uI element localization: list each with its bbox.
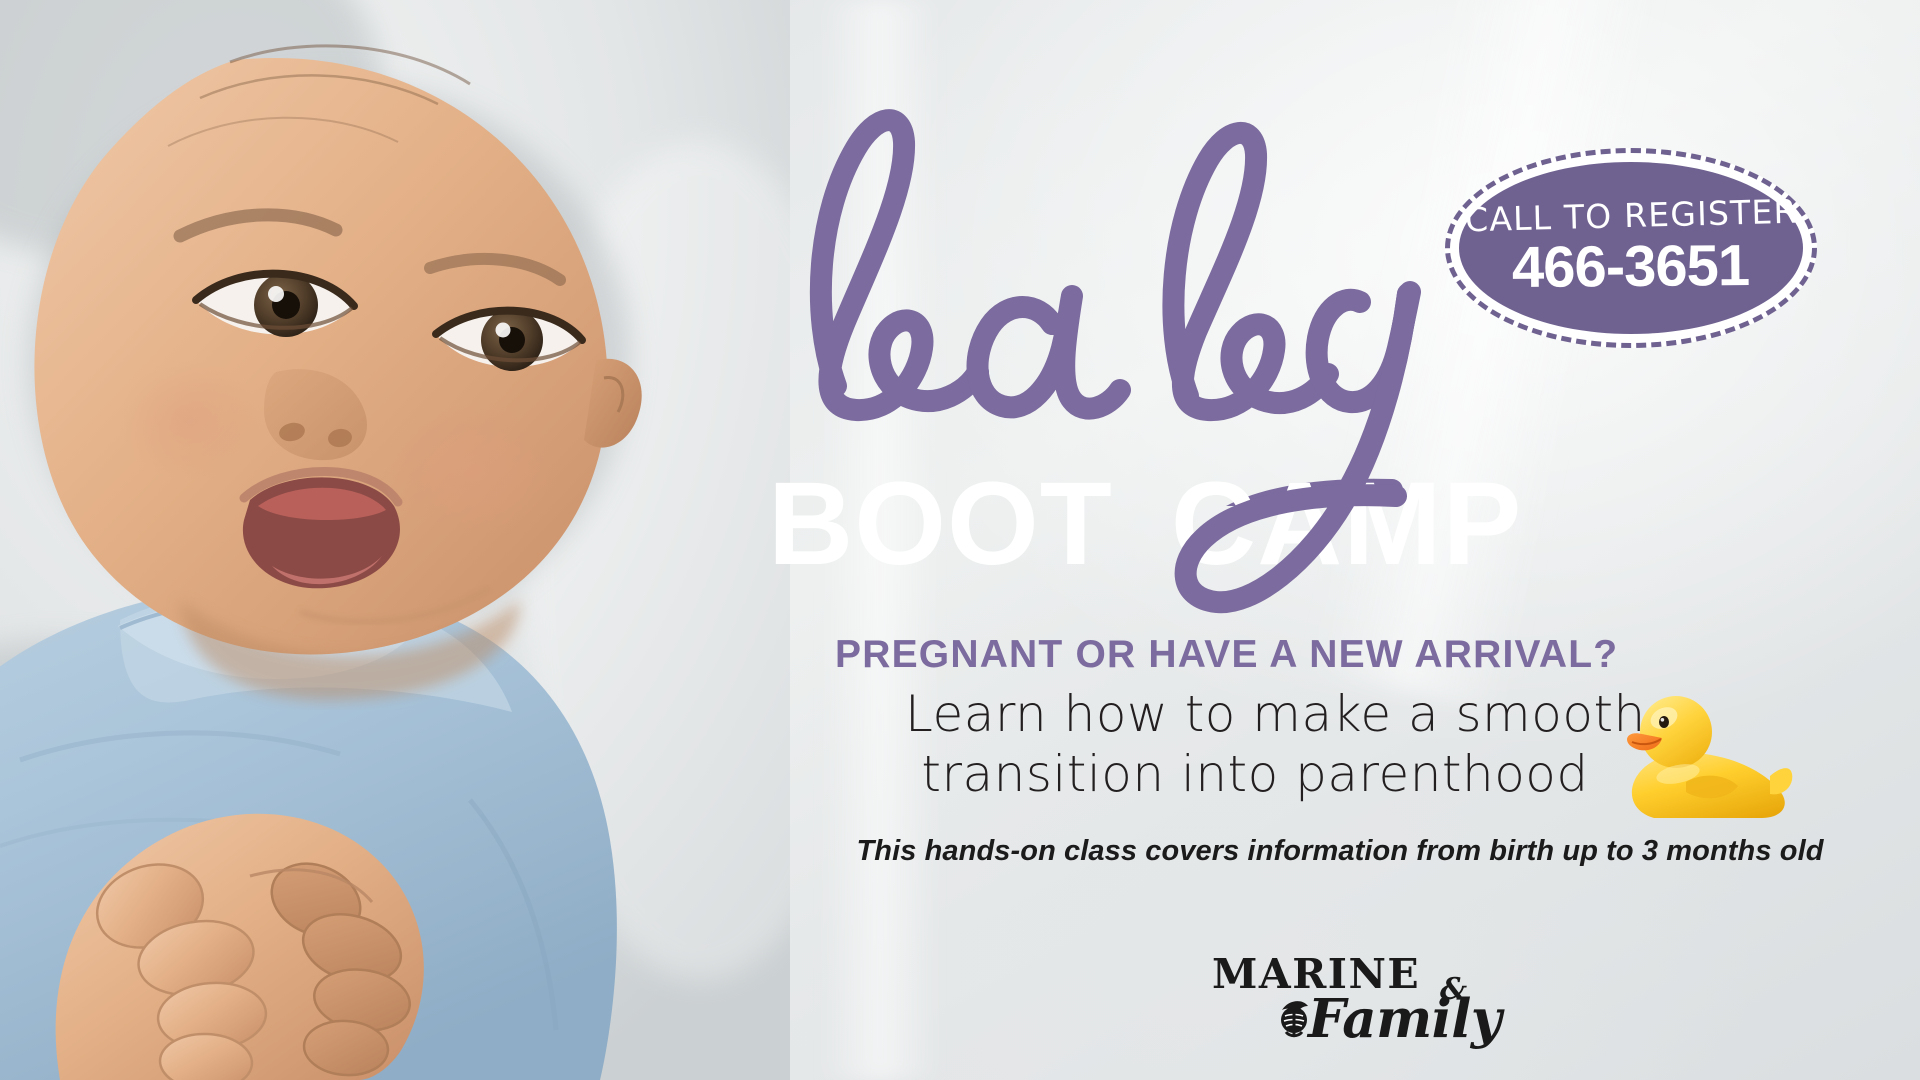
badge-phone-number[interactable]: 466-3651 bbox=[1512, 232, 1750, 301]
title-boot: BOOT bbox=[768, 458, 1113, 590]
title-camp: CAMP bbox=[1171, 458, 1522, 590]
title-script-baby bbox=[752, 86, 1492, 506]
subline-line-2: transition into parenthood bbox=[905, 744, 1605, 804]
subline-line-1: Learn how to make a smooth bbox=[905, 685, 1646, 743]
poster-canvas: BOOTCAMP CALL TO REGISTER 466-3651 PREGN… bbox=[0, 0, 1920, 1080]
logo-family-text: Family bbox=[1308, 988, 1501, 1050]
subline-block: Learn how to make a smooth transition in… bbox=[905, 684, 1605, 804]
title-bootcamp: BOOTCAMP bbox=[768, 472, 1898, 577]
headline-question: PREGNANT OR HAVE A NEW ARRIVAL? bbox=[835, 633, 1618, 677]
marine-and-family-logo: MARINE & Family bbox=[1212, 950, 1512, 1042]
rubber-duck-icon bbox=[1620, 690, 1795, 825]
baby-photo bbox=[0, 0, 790, 1080]
call-to-register-badge[interactable]: CALL TO REGISTER 466-3651 bbox=[1445, 148, 1817, 348]
fineprint-text: This hands-on class covers information f… bbox=[830, 835, 1850, 868]
